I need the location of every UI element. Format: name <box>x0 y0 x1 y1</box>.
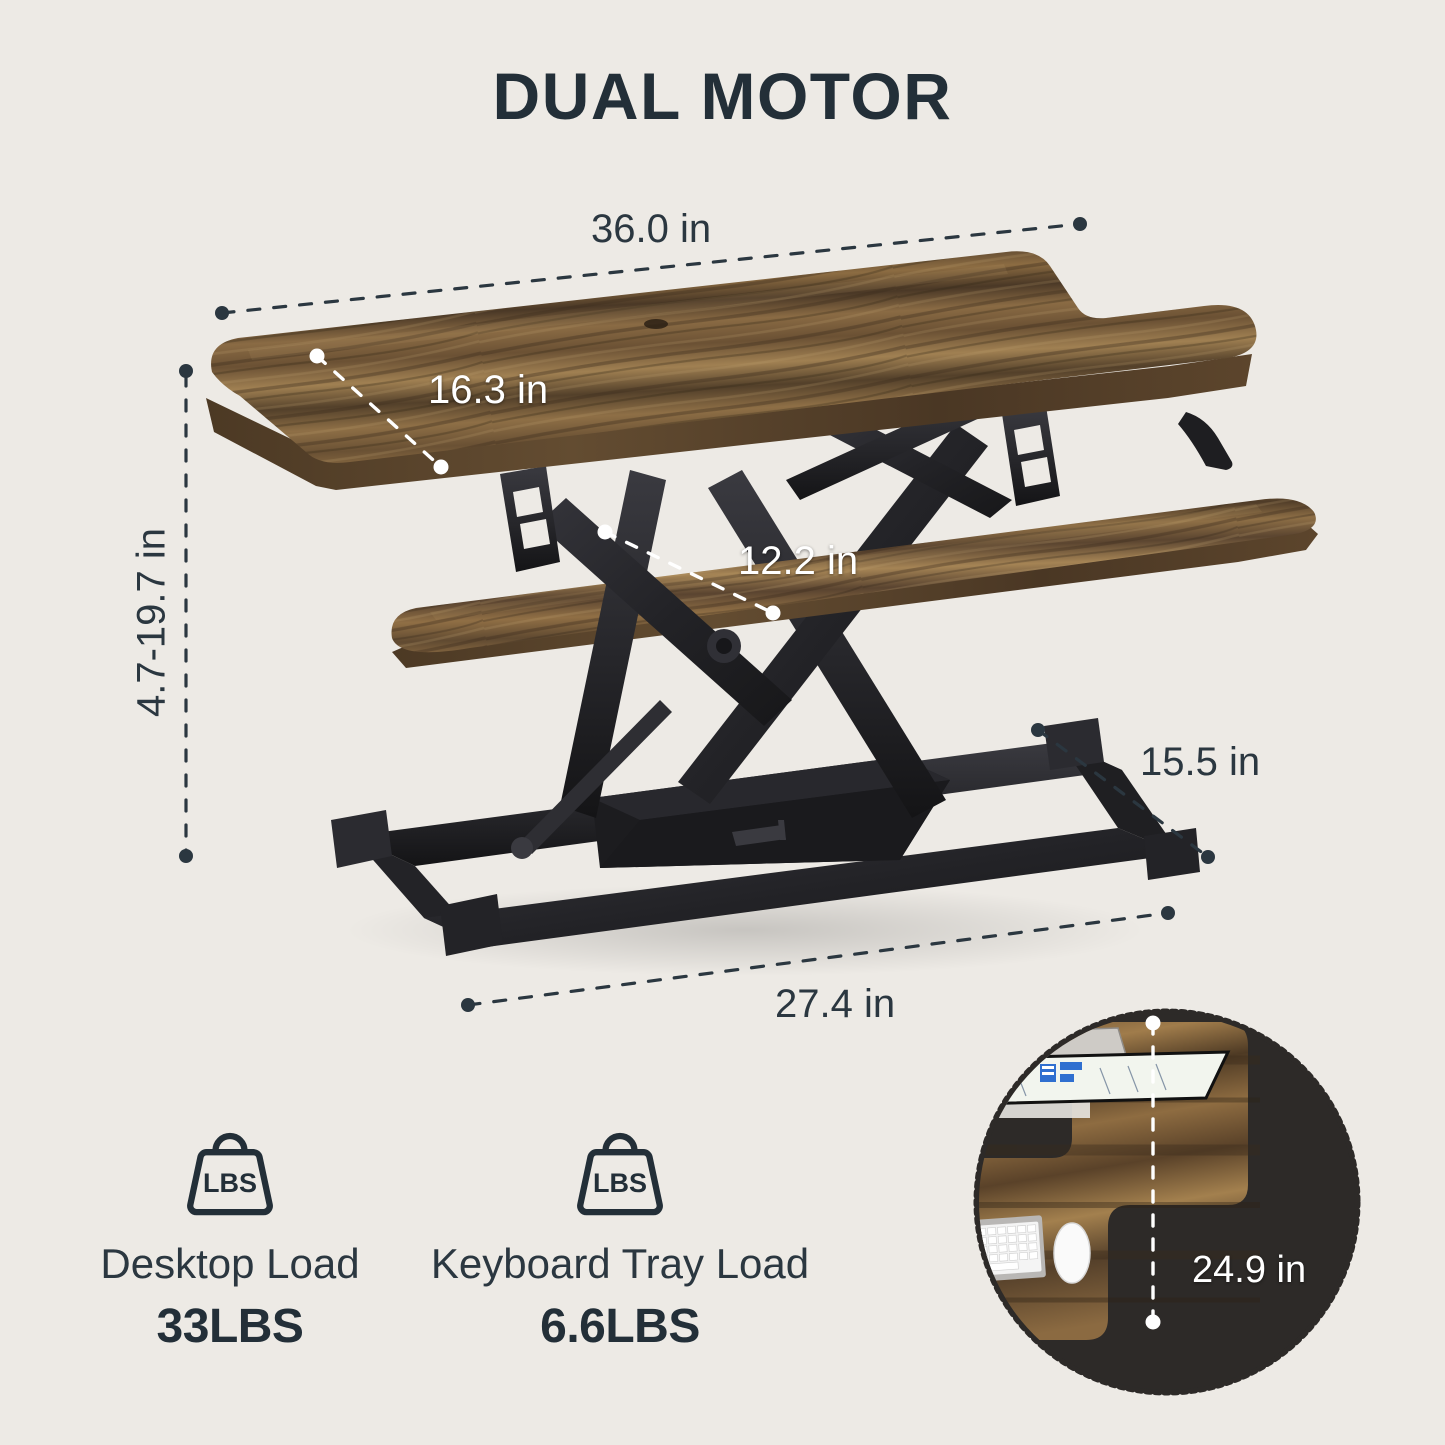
weight-lbs-icon: LBS <box>176 1118 284 1226</box>
height-adjust-bracket-left <box>500 466 560 572</box>
dimension-label-inset-depth: 24.9 in <box>1192 1249 1306 1292</box>
spec-keyboard-tray-load: LBS Keyboard Tray Load 6.6LBS <box>410 1118 830 1354</box>
dimension-label-width-top: 36.0 in <box>591 207 711 252</box>
dimension-label-base-width: 27.4 in <box>775 982 895 1027</box>
spec-desktop-label: Desktop Load <box>60 1241 400 1287</box>
weight-icon-text: LBS <box>593 1168 647 1198</box>
weight-lbs-icon: LBS <box>566 1118 674 1226</box>
inset-mouse <box>1054 1223 1090 1283</box>
top-desktop <box>206 251 1256 490</box>
weight-icon-text: LBS <box>203 1168 257 1198</box>
dimension-label-depth-top: 16.3 in <box>428 368 548 413</box>
inset-keyboard <box>960 1215 1046 1283</box>
dimension-label-base-depth: 15.5 in <box>1140 740 1260 785</box>
spec-keyboard-value: 6.6LBS <box>410 1299 830 1354</box>
dimension-label-depth-tray: 12.2 in <box>738 539 858 584</box>
product-infographic: DUAL MOTOR <box>0 0 1445 1445</box>
height-adjust-bracket-right <box>1002 406 1060 506</box>
top-view-inset <box>940 1012 1357 1392</box>
release-handle <box>1178 412 1232 470</box>
spec-desktop-value: 33LBS <box>60 1299 400 1354</box>
spec-keyboard-label: Keyboard Tray Load <box>410 1241 830 1287</box>
dimension-label-height-range: 4.7-19.7 in <box>130 463 175 783</box>
spec-desktop-load: LBS Desktop Load 33LBS <box>60 1118 400 1354</box>
